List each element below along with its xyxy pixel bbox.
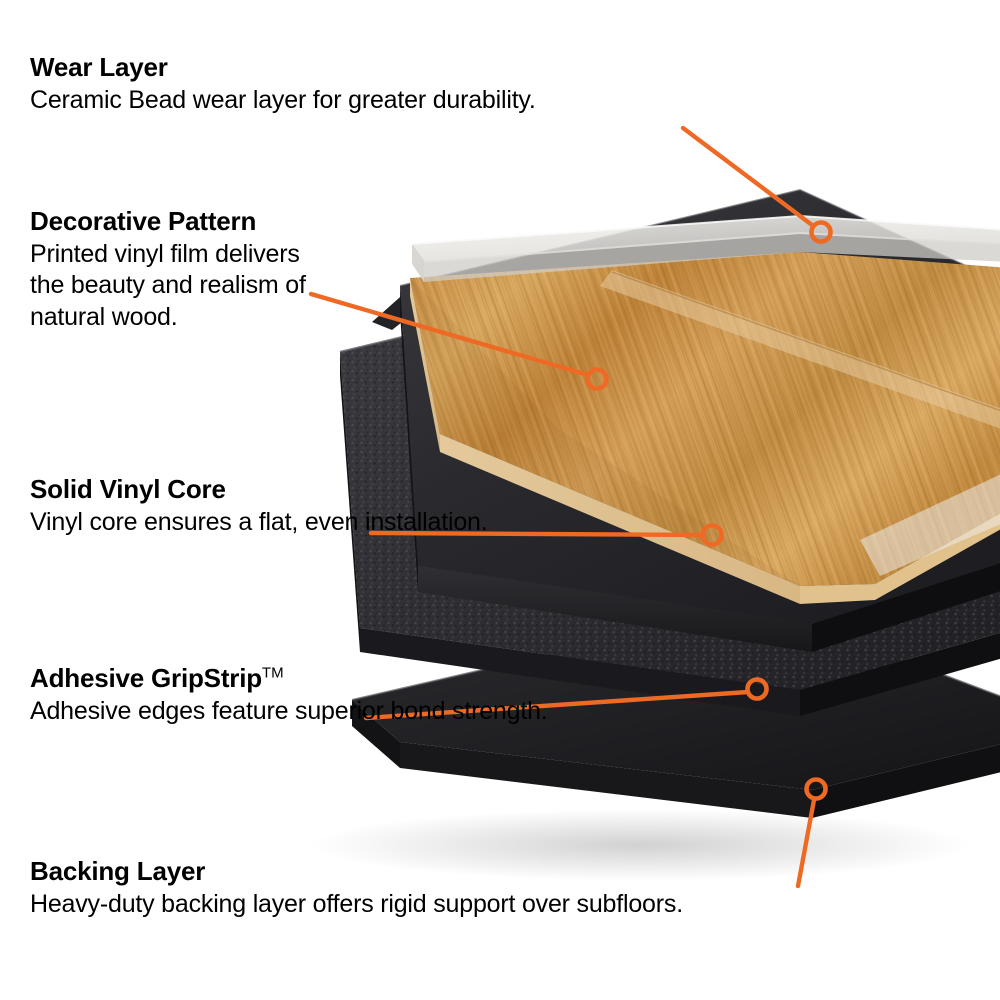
leader-line-backing (798, 800, 814, 886)
callout-decorative-pattern: Decorative Pattern Printed vinyl film de… (30, 206, 330, 334)
callout-body-decorative-pattern: Printed vinyl film delivers the beauty a… (30, 239, 330, 334)
leader-line-decor (311, 294, 588, 375)
callout-body-adhesive-gripstrip: Adhesive edges feature superior bond str… (30, 696, 548, 728)
callout-title-wear-layer: Wear Layer (30, 52, 536, 83)
callout-title-solid-vinyl-core: Solid Vinyl Core (30, 474, 487, 505)
callout-body-backing-layer: Heavy-duty backing layer offers rigid su… (30, 889, 683, 921)
callout-title-decorative-pattern: Decorative Pattern (30, 206, 330, 237)
callout-title-adhesive-gripstrip: Adhesive GripStripTM (30, 663, 548, 694)
leader-line-wear (683, 128, 812, 225)
callout-body-solid-vinyl-core: Vinyl core ensures a flat, even installa… (30, 507, 487, 539)
callout-title-adhesive-gripstrip-text: Adhesive GripStrip (30, 663, 262, 693)
callout-ring-decor[interactable] (588, 370, 607, 389)
callout-wear-layer: Wear Layer Ceramic Bead wear layer for g… (30, 52, 536, 116)
callout-ring-core[interactable] (703, 526, 722, 545)
callout-body-wear-layer: Ceramic Bead wear layer for greater dura… (30, 85, 536, 117)
callout-ring-grip[interactable] (748, 680, 767, 699)
callout-ring-backing[interactable] (807, 780, 826, 799)
callout-solid-vinyl-core: Solid Vinyl Core Vinyl core ensures a fl… (30, 474, 487, 538)
callout-backing-layer: Backing Layer Heavy-duty backing layer o… (30, 856, 683, 920)
product-layer-diagram: Wear Layer Ceramic Bead wear layer for g… (0, 0, 1000, 1000)
callout-adhesive-gripstrip: Adhesive GripStripTM Adhesive edges feat… (30, 663, 548, 727)
trademark-superscript: TM (262, 664, 284, 681)
callout-ring-wear[interactable] (812, 223, 831, 242)
callout-title-backing-layer: Backing Layer (30, 856, 683, 887)
